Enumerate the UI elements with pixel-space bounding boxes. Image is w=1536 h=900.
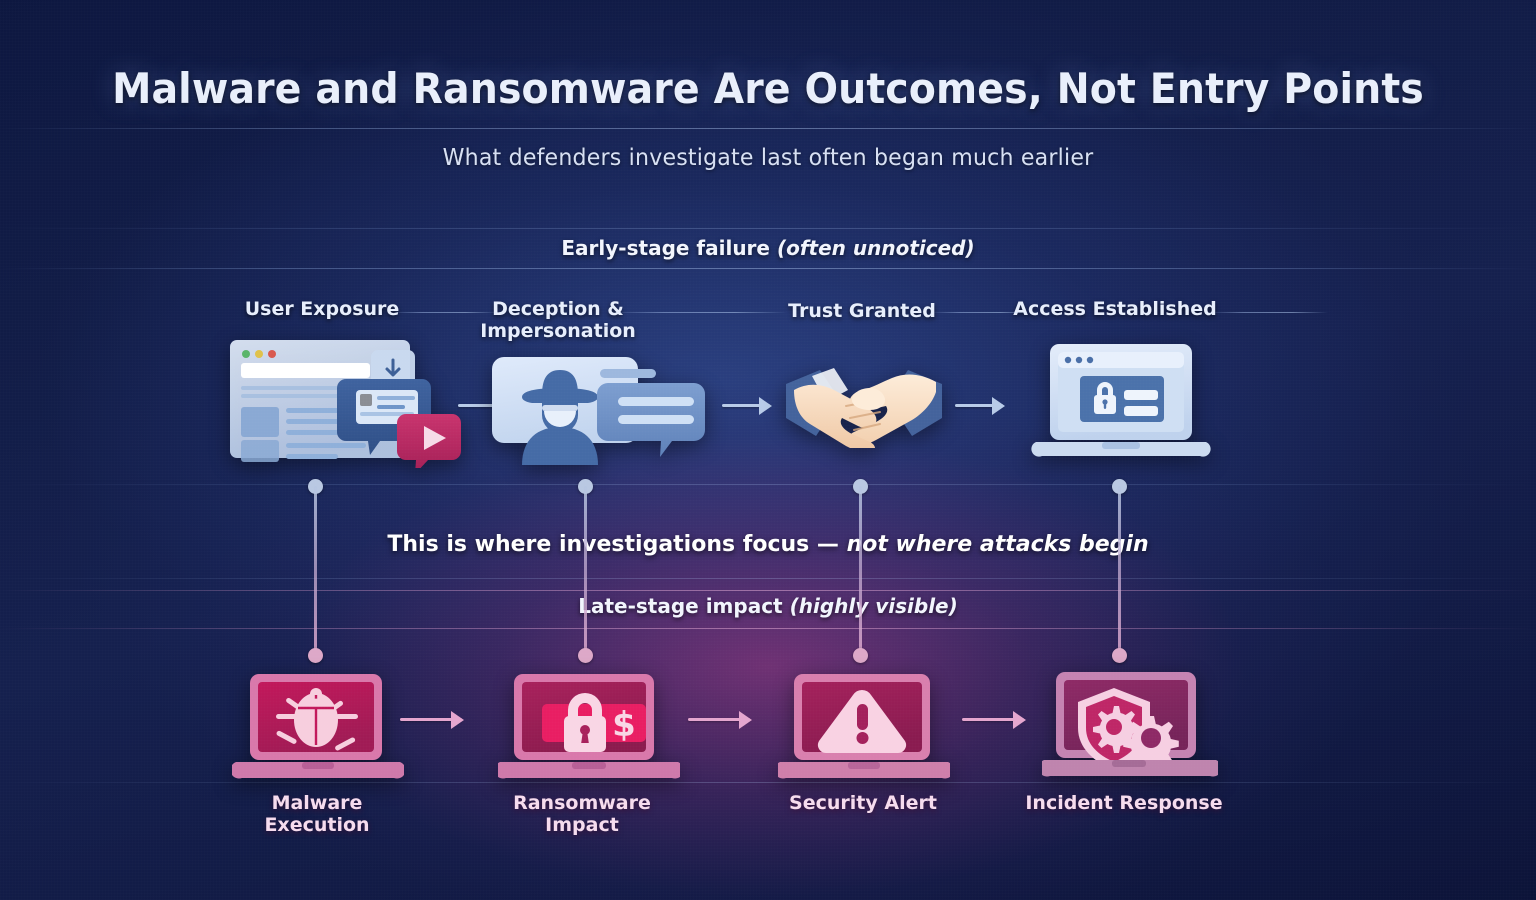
- title-divider-rule: [0, 128, 1536, 129]
- page-title: Malware and Ransomware Are Outcomes, Not…: [46, 64, 1490, 113]
- mid-band-italic: not where attacks begin: [847, 532, 1149, 557]
- connector-dot-bottom-4: [1112, 648, 1127, 663]
- arrow-head-icon: [451, 711, 464, 729]
- stage-label-malware-line2: Execution: [187, 814, 447, 836]
- early-band-italic: (often unnoticed): [777, 236, 975, 260]
- arrow-early-3: [955, 404, 1003, 407]
- arrow-head-icon: [1013, 711, 1026, 729]
- icon-incident-response: [1042, 668, 1218, 784]
- stage-label-user-exposure: User Exposure: [192, 298, 452, 320]
- investigation-focus-label: This is where investigations focus — not…: [0, 532, 1536, 557]
- icon-access-established: [1026, 340, 1216, 462]
- icon-security-alert: [778, 672, 950, 784]
- arrow-late-3: [962, 718, 1024, 721]
- connector-dot-bottom-2: [578, 648, 593, 663]
- mid-lower-rule: [0, 578, 1536, 579]
- arrow-head-icon: [759, 397, 772, 415]
- mid-band-text: This is where investigations focus —: [387, 532, 846, 557]
- late-baseline-rule: [0, 782, 1536, 783]
- stage-label-malware-execution: Malware Execution: [187, 792, 447, 837]
- early-stage-band-label: Early-stage failure (often unnoticed): [0, 236, 1536, 260]
- icon-user-exposure: [228, 336, 468, 468]
- connector-dot-bottom-1: [308, 648, 323, 663]
- arrow-late-2: [688, 718, 750, 721]
- early-band-text: Early-stage failure: [561, 236, 777, 260]
- page-subtitle: What defenders investigate last often be…: [31, 145, 1506, 171]
- stage-label-security-alert: Security Alert: [733, 792, 993, 814]
- stage-label-trust-granted: Trust Granted: [732, 300, 992, 322]
- connector-line-2: [584, 486, 587, 656]
- early-band-bottom-rule: [0, 268, 1536, 269]
- arrow-early-2: [722, 404, 770, 407]
- stage-label-malware-line1: Malware: [187, 792, 447, 814]
- arrow-head-icon: [739, 711, 752, 729]
- icon-ransomware-impact: $: [498, 672, 680, 784]
- early-band-top-rule: [0, 228, 1536, 229]
- connector-line-4: [1118, 486, 1121, 656]
- stage-label-incident-response: Incident Response: [994, 792, 1254, 814]
- arrow-head-icon: [992, 397, 1005, 415]
- arrow-late-1: [400, 718, 462, 721]
- stage-label-access-established: Access Established: [985, 298, 1245, 320]
- stage-label-ransomware-impact: Ransomware Impact: [452, 792, 712, 837]
- stage-label-ransomware-line1: Ransomware: [452, 792, 712, 814]
- late-band-bottom-rule: [0, 628, 1536, 629]
- connector-line-1: [314, 486, 317, 656]
- stage-label-deception-line1: Deception &: [428, 298, 688, 320]
- late-stage-band-label: Late-stage impact (highly visible): [0, 594, 1536, 618]
- late-band-text: Late-stage impact: [578, 594, 789, 618]
- icon-trust-granted: [786, 360, 942, 448]
- icon-deception-impersonation: [492, 355, 708, 467]
- stage-label-ransomware-line2: Impact: [452, 814, 712, 836]
- infographic-canvas: Malware and Ransomware Are Outcomes, Not…: [0, 0, 1536, 900]
- connector-line-3: [859, 486, 862, 656]
- late-band-top-rule: [0, 590, 1536, 591]
- icon-malware-execution: [232, 672, 404, 784]
- svg-text:$: $: [612, 705, 636, 745]
- connector-dot-bottom-3: [853, 648, 868, 663]
- late-band-italic: (highly visible): [790, 594, 958, 618]
- mid-upper-rule: [0, 484, 1536, 485]
